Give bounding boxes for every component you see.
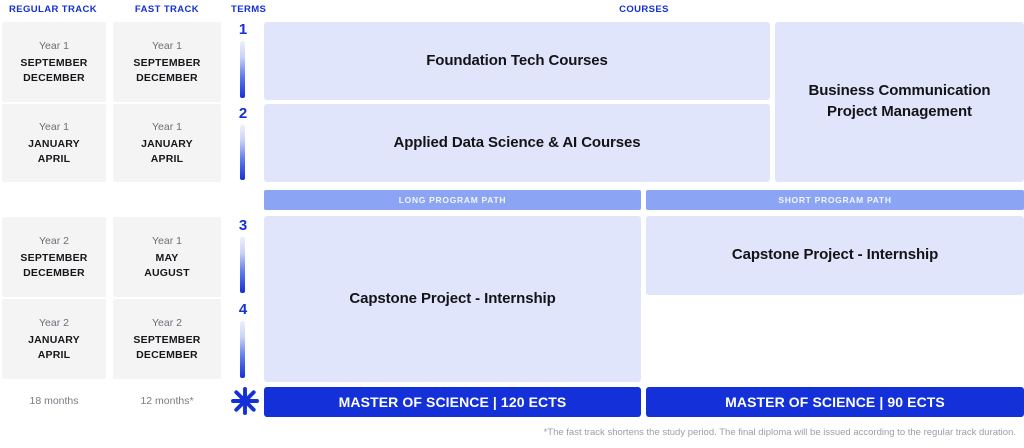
fast-track-card-4: Year 2 SEPTEMBER DECEMBER	[113, 299, 221, 379]
regular-track-year-4: Year 2	[39, 316, 69, 330]
term-bar-3	[240, 237, 245, 293]
term-number-1: 1	[233, 22, 253, 37]
fast-track-end-3: AUGUST	[144, 266, 190, 280]
course-label-capstone-short: Capstone Project - Internship	[732, 245, 938, 266]
fast-track-start-3: MAY	[156, 251, 179, 265]
fast-track-card-3: Year 1 MAY AUGUST	[113, 217, 221, 297]
regular-track-year-1: Year 1	[39, 39, 69, 53]
course-block-capstone-short: Capstone Project - Internship	[646, 216, 1024, 295]
course-label-business-communication: Business Communication Project Managemen…	[809, 81, 991, 122]
fast-track-card-1: Year 1 SEPTEMBER DECEMBER	[113, 22, 221, 102]
regular-track-end-2: APRIL	[38, 152, 71, 166]
path-bar-short: SHORT PROGRAM PATH	[646, 190, 1024, 210]
regular-track-end-3: DECEMBER	[23, 266, 85, 280]
fast-track-year-4: Year 2	[152, 316, 182, 330]
fast-track-start-1: SEPTEMBER	[133, 56, 200, 70]
fast-track-year-2: Year 1	[152, 120, 182, 134]
term-number-2: 2	[233, 106, 253, 121]
fast-track-year-3: Year 1	[152, 234, 182, 248]
course-block-foundation: Foundation Tech Courses	[264, 22, 770, 100]
fast-track-duration: 12 months*	[113, 386, 221, 416]
regular-track-end-1: DECEMBER	[23, 71, 85, 85]
course-label-business-line2: Project Management	[827, 103, 972, 120]
path-bar-long: LONG PROGRAM PATH	[264, 190, 641, 210]
course-label-business-line1: Business Communication	[809, 82, 991, 99]
course-block-business-communication: Business Communication Project Managemen…	[775, 22, 1024, 182]
regular-track-card-4: Year 2 JANUARY APRIL	[2, 299, 106, 379]
course-label-applied-data-science: Applied Data Science & AI Courses	[393, 133, 640, 154]
course-block-applied-data-science: Applied Data Science & AI Courses	[264, 104, 770, 182]
regular-track-start-1: SEPTEMBER	[20, 56, 87, 70]
fast-track-start-2: JANUARY	[141, 137, 193, 151]
regular-track-end-4: APRIL	[38, 348, 71, 362]
fast-track-end-2: APRIL	[151, 152, 184, 166]
regular-track-duration: 18 months	[2, 386, 106, 416]
term-bar-1	[240, 41, 245, 98]
footnote: *The fast track shortens the study perio…	[0, 427, 1016, 438]
path-label-short: SHORT PROGRAM PATH	[778, 195, 891, 205]
course-label-foundation: Foundation Tech Courses	[426, 51, 608, 72]
course-label-capstone-long: Capstone Project - Internship	[349, 289, 555, 310]
regular-track-start-2: JANUARY	[28, 137, 80, 151]
term-bar-4	[240, 321, 245, 378]
regular-track-card-2: Year 1 JANUARY APRIL	[2, 104, 106, 182]
regular-track-card-3: Year 2 SEPTEMBER DECEMBER	[2, 217, 106, 297]
term-bar-2	[240, 125, 245, 180]
regular-track-card-1: Year 1 SEPTEMBER DECEMBER	[2, 22, 106, 102]
course-block-capstone-long: Capstone Project - Internship	[264, 216, 641, 382]
header-fast-track: FAST TRACK	[113, 4, 221, 15]
fast-track-card-2: Year 1 JANUARY APRIL	[113, 104, 221, 182]
term-number-3: 3	[233, 218, 253, 233]
fast-track-year-1: Year 1	[152, 39, 182, 53]
fast-track-start-4: SEPTEMBER	[133, 333, 200, 347]
regular-track-year-3: Year 2	[39, 234, 69, 248]
fast-track-end-1: DECEMBER	[136, 71, 198, 85]
fast-track-end-4: DECEMBER	[136, 348, 198, 362]
term-number-4: 4	[233, 302, 253, 317]
path-label-long: LONG PROGRAM PATH	[399, 195, 506, 205]
degree-bar-long: MASTER OF SCIENCE | 120 ECTS	[264, 387, 641, 417]
degree-bar-short: MASTER OF SCIENCE | 90 ECTS	[646, 387, 1024, 417]
header-regular-track: REGULAR TRACK	[0, 4, 106, 15]
asterisk-icon	[229, 385, 261, 417]
degree-label-short: MASTER OF SCIENCE | 90 ECTS	[725, 394, 945, 410]
regular-track-year-2: Year 1	[39, 120, 69, 134]
header-courses: COURSES	[264, 4, 1024, 15]
regular-track-start-3: SEPTEMBER	[20, 251, 87, 265]
regular-track-start-4: JANUARY	[28, 333, 80, 347]
degree-label-long: MASTER OF SCIENCE | 120 ECTS	[339, 394, 567, 410]
